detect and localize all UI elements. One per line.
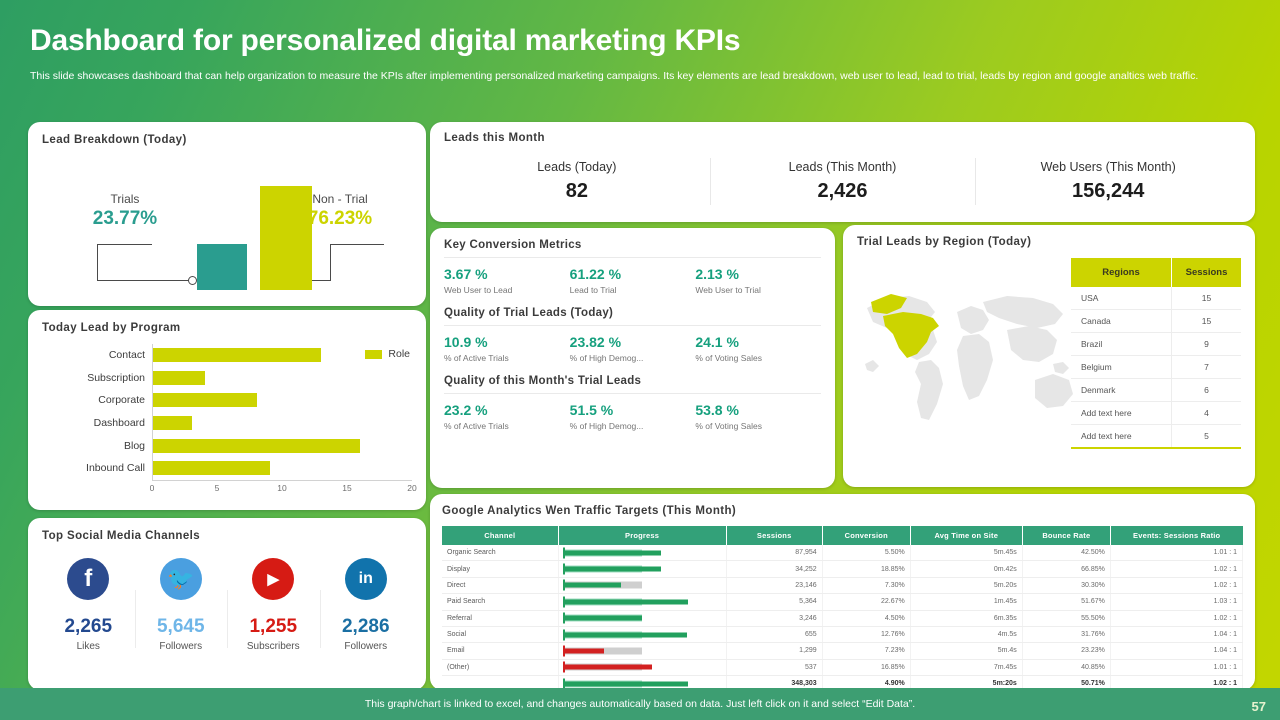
leads-metric-value: 156,244 [975,180,1241,203]
program-axis-tick: 5 [215,483,220,493]
program-bar [153,371,205,385]
progress-bullet [563,595,722,609]
section-divider [444,325,821,326]
conversion-metric-cell: 3.67 %Web User to Lead [444,266,570,295]
region-table-header-row: Regions Sessions [1071,258,1241,287]
analytics-avg-time: 7m.45s [910,659,1022,675]
analytics-conversion: 4.50% [822,610,910,626]
trials-leader-vert [97,244,98,280]
region-body: Regions Sessions USA15Canada15Brazil9Bel… [857,254,1241,472]
key-conversion-sections: Key Conversion Metrics3.67 %Web User to … [444,239,821,431]
progress-fill [563,632,687,637]
progress-fill [563,616,643,621]
region-col-regions: Regions [1071,258,1172,287]
program-bar [153,439,360,453]
analytics-progress-cell [558,577,726,593]
analytics-column-header: Avg Time on Site [910,526,1022,545]
progress-target-mark [563,547,565,558]
conversion-metric-value: 53.8 % [695,402,821,418]
conversion-section-title: Quality of this Month's Trial Leads [444,375,821,387]
leads-this-month-row: Leads (Today)82Leads (This Month)2,426We… [444,156,1241,207]
region-name: Add text here [1071,402,1172,425]
progress-target-mark [563,580,565,591]
analytics-conversion: 16.85% [822,659,910,675]
progress-target-mark [563,596,565,607]
region-sessions: 15 [1172,287,1242,310]
conversion-metric-cell: 51.5 %% of High Demog... [570,402,696,431]
analytics-events-ratio: 1.02 : 1 [1110,577,1242,593]
program-bar [153,348,321,362]
social-channel-cell[interactable]: in2,286Followers [320,558,413,652]
conversion-metric-value: 24.1 % [695,334,821,350]
table-row: Belgium7 [1071,356,1241,379]
analytics-table-body: Organic Search87,9545.50%5m.45s42.50%1.0… [442,545,1243,690]
analytics-bounce-rate: 55.50% [1022,610,1110,626]
leads-metric-label: Leads (Today) [444,160,710,174]
conversion-metric-label: Web User to Lead [444,285,570,295]
table-row: Add text here4 [1071,402,1241,425]
progress-target-mark [563,613,565,624]
social-metric-label: Followers [320,641,413,652]
analytics-progress-cell [558,659,726,675]
section-divider [444,257,821,258]
conversion-metric-cell: 23.2 %% of Active Trials [444,402,570,431]
analytics-bounce-rate: 30.30% [1022,577,1110,593]
progress-fill [563,550,662,555]
analytics-conversion: 7.30% [822,577,910,593]
twitter-icon[interactable]: 🐦 [160,558,202,600]
table-row: Email1,2997.23%5m.4s23.23%1.04 : 1 [442,643,1243,659]
program-x-axis: 05101520 [152,480,412,494]
conversion-metric-value: 61.22 % [570,266,696,282]
conversion-metric-value: 23.82 % [570,334,696,350]
leads-metric-value: 82 [444,180,710,203]
program-bar-row: Contact [42,344,412,367]
analytics-conversion: 22.67% [822,594,910,610]
progress-target-mark [563,662,565,673]
program-bar-track [152,412,412,435]
analytics-events-ratio: 1.02 : 1 [1110,610,1242,626]
program-bar [153,416,192,430]
google-analytics-title: Google Analytics Wen Traffic Targets (Th… [442,505,1243,517]
analytics-avg-time: 4m.5s [910,626,1022,642]
page-header: Dashboard for personalized digital marke… [0,0,1280,83]
program-bar-track [152,389,412,412]
lead-by-program-card: Today Lead by Program ContactSubscriptio… [28,310,426,510]
table-row: Social65512.76%4m.5s31.76%1.04 : 1 [442,626,1243,642]
progress-fill [563,665,652,670]
analytics-bounce-rate: 51.67% [1022,594,1110,610]
region-sessions: 15 [1172,310,1242,333]
conversion-metric-label: % of Active Trials [444,421,570,431]
analytics-column-header: Events: Sessions Ratio [1110,526,1242,545]
analytics-events-ratio: 1.01 : 1 [1110,545,1242,561]
table-row: Referral3,2464.50%6m.35s55.50%1.02 : 1 [442,610,1243,626]
analytics-progress-cell [558,610,726,626]
analytics-channel: Referral [442,610,558,626]
progress-bullet [563,611,722,625]
analytics-channel: Direct [442,577,558,593]
conversion-metric-row: 23.2 %% of Active Trials51.5 %% of High … [444,402,821,431]
program-bar-track [152,457,412,480]
table-row: Display34,25218.85%0m.42s66.85%1.02 : 1 [442,561,1243,577]
google-analytics-card: Google Analytics Wen Traffic Targets (Th… [430,494,1255,690]
region-name: Denmark [1071,379,1172,402]
region-sessions: 5 [1172,425,1242,449]
footer-note: This graph/chart is linked to excel, and… [365,698,915,710]
progress-target-mark [563,564,565,575]
region-name: USA [1071,287,1172,310]
table-row: Add text here5 [1071,425,1241,449]
trials-leader-bottom [97,280,193,281]
world-map-icon [857,268,1083,438]
leads-metric-label: Web Users (This Month) [975,160,1241,174]
analytics-sessions: 655 [726,626,822,642]
analytics-channel: Email [442,643,558,659]
analytics-events-ratio: 1.01 : 1 [1110,659,1242,675]
nontrial-leader-top [330,244,384,245]
table-row: USA15 [1071,287,1241,310]
region-col-sessions: Sessions [1172,258,1242,287]
nontrial-leader-vert [330,244,331,280]
page-subtitle: This slide showcases dashboard that can … [30,69,1230,83]
analytics-conversion: 12.76% [822,626,910,642]
lead-by-program-title: Today Lead by Program [42,322,412,334]
analytics-channel: Display [442,561,558,577]
page-number: 57 [1252,699,1266,714]
analytics-conversion: 18.85% [822,561,910,577]
table-row: (Other)53716.85%7m.45s40.85%1.01 : 1 [442,659,1243,675]
progress-fill [563,599,689,604]
progress-bullet [563,628,722,642]
progress-bullet [563,562,722,576]
progress-target-mark [563,629,565,640]
analytics-channel: Social [442,626,558,642]
conversion-metric-cell: 2.13 %Web User to Trial [695,266,821,295]
analytics-progress-cell [558,545,726,561]
region-name: Add text here [1071,425,1172,449]
leads-metric-cell: Leads (Today)82 [444,156,710,207]
program-bar-row: Subscription [42,367,412,390]
linkedin-icon[interactable]: in [345,558,387,600]
lead-by-program-chart: ContactSubscriptionCorporateDashboardBlo… [42,344,412,494]
progress-fill [563,567,662,572]
program-bar [153,393,257,407]
social-metric-label: Followers [135,641,228,652]
progress-bullet [563,546,722,560]
program-category-label: Inbound Call [42,462,152,474]
analytics-avg-time: 5m.4s [910,643,1022,659]
social-channels-card: Top Social Media Channels f2,265Likes🐦5,… [28,518,426,690]
conversion-metric-label: Lead to Trial [570,285,696,295]
program-axis-tick: 20 [407,483,416,493]
table-row: Canada15 [1071,310,1241,333]
conversion-metric-label: % of Voting Sales [695,421,821,431]
trials-callout: Trials 23.77% [80,192,170,230]
youtube-icon[interactable]: ▶ [252,558,294,600]
progress-fill [563,648,604,653]
conversion-metric-row: 10.9 %% of Active Trials23.82 %% of High… [444,334,821,363]
analytics-column-header: Progress [558,526,726,545]
social-channels-title: Top Social Media Channels [42,530,412,542]
analytics-progress-cell [558,643,726,659]
trials-value: 23.77% [80,208,170,230]
trials-label: Trials [80,192,170,206]
analytics-sessions: 1,299 [726,643,822,659]
progress-bullet [563,578,722,592]
analytics-sessions: 3,246 [726,610,822,626]
analytics-sessions: 23,146 [726,577,822,593]
program-bar-row: Corporate [42,389,412,412]
region-sessions: 6 [1172,379,1242,402]
program-axis-tick: 10 [277,483,286,493]
section-spacer [444,295,821,307]
lead-breakdown-title: Lead Breakdown (Today) [42,134,412,146]
program-category-label: Contact [42,349,152,361]
trials-leader-dot [188,276,197,285]
conversion-metric-value: 51.5 % [570,402,696,418]
analytics-progress-cell [558,594,726,610]
analytics-channel: Organic Search [442,545,558,561]
leads-metric-cell: Leads (This Month)2,426 [710,156,976,207]
analytics-events-ratio: 1.03 : 1 [1110,594,1242,610]
conversion-metric-label: % of Voting Sales [695,353,821,363]
program-category-label: Dashboard [42,417,152,429]
analytics-progress-cell [558,561,726,577]
analytics-column-header: Sessions [726,526,822,545]
analytics-sessions: 87,954 [726,545,822,561]
analytics-progress-cell [558,626,726,642]
conversion-section-title: Key Conversion Metrics [444,239,821,251]
conversion-metric-label: % of High Demog... [570,421,696,431]
region-sessions: 4 [1172,402,1242,425]
social-metric-label: Subscribers [227,641,320,652]
region-table: Regions Sessions USA15Canada15Brazil9Bel… [1071,258,1241,449]
analytics-conversion: 7.23% [822,643,910,659]
conversion-section-title: Quality of Trial Leads (Today) [444,307,821,319]
conversion-metric-value: 23.2 % [444,402,570,418]
conversion-metric-label: % of Active Trials [444,353,570,363]
social-metric-label: Likes [42,641,135,652]
analytics-avg-time: 5m.20s [910,577,1022,593]
trials-leader-top [97,244,152,245]
lead-breakdown-card: Lead Breakdown (Today) Trials 23.77% Non… [28,122,426,306]
trial-leads-region-card: Trial Leads by Region (Today) [843,225,1255,487]
analytics-avg-time: 5m.45s [910,545,1022,561]
program-bar-track [152,367,412,390]
table-row: Paid Search5,36422.67%1m.45s51.67%1.03 :… [442,594,1243,610]
analytics-bounce-rate: 40.85% [1022,659,1110,675]
program-bar-row: Inbound Call [42,457,412,480]
facebook-icon[interactable]: f [67,558,109,600]
progress-bullet [563,644,722,658]
social-channels-grid: f2,265Likes🐦5,645Followers▶1,255Subscrib… [42,558,412,652]
conversion-metric-cell: 53.8 %% of Voting Sales [695,402,821,431]
program-bar-row: Blog [42,434,412,457]
conversion-metric-label: % of High Demog... [570,353,696,363]
program-bar-row: Dashboard [42,412,412,435]
progress-fill [563,583,622,588]
analytics-sessions: 34,252 [726,561,822,577]
analytics-avg-time: 6m.35s [910,610,1022,626]
table-row: Denmark6 [1071,379,1241,402]
conversion-metric-cell: 23.82 %% of High Demog... [570,334,696,363]
progress-fill [563,681,689,686]
analytics-header-row: ChannelProgressSessionsConversionAvg Tim… [442,526,1243,545]
footer-bar: This graph/chart is linked to excel, and… [0,688,1280,720]
social-channel-cell[interactable]: ▶1,255Subscribers [227,558,320,652]
analytics-events-ratio: 1.02 : 1 [1110,561,1242,577]
conversion-metric-value: 2.13 % [695,266,821,282]
key-conversion-metrics-card: Key Conversion Metrics3.67 %Web User to … [430,228,835,488]
social-channel-cell[interactable]: 🐦5,645Followers [135,558,228,652]
leads-this-month-title: Leads this Month [444,132,1241,144]
region-name: Canada [1071,310,1172,333]
page-title: Dashboard for personalized digital marke… [30,24,1250,57]
region-name: Belgium [1071,356,1172,379]
region-sessions: 7 [1172,356,1242,379]
analytics-table: ChannelProgressSessionsConversionAvg Tim… [442,526,1243,690]
program-category-label: Corporate [42,394,152,406]
conversion-metric-value: 3.67 % [444,266,570,282]
section-spacer [444,363,821,375]
leads-this-month-card: Leads this Month Leads (Today)82Leads (T… [430,122,1255,222]
region-sessions: 9 [1172,333,1242,356]
analytics-bounce-rate: 66.85% [1022,561,1110,577]
analytics-avg-time: 0m.42s [910,561,1022,577]
program-category-label: Blog [42,440,152,452]
analytics-bounce-rate: 42.50% [1022,545,1110,561]
analytics-events-ratio: 1.04 : 1 [1110,626,1242,642]
conversion-metric-row: 3.67 %Web User to Lead61.22 %Lead to Tri… [444,266,821,295]
program-axis-tick: 15 [342,483,351,493]
trial-leads-region-title: Trial Leads by Region (Today) [857,236,1241,248]
program-axis-tick: 0 [150,483,155,493]
social-count: 1,255 [227,616,320,638]
social-count: 2,265 [42,616,135,638]
conversion-metric-label: Web User to Trial [695,285,821,295]
analytics-bounce-rate: 31.76% [1022,626,1110,642]
program-bar [153,461,270,475]
analytics-bounce-rate: 23.23% [1022,643,1110,659]
section-divider [444,393,821,394]
analytics-channel: (Other) [442,659,558,675]
leads-metric-value: 2,426 [710,180,976,203]
analytics-channel: Paid Search [442,594,558,610]
social-count: 2,286 [320,616,413,638]
conversion-metric-cell: 10.9 %% of Active Trials [444,334,570,363]
leads-metric-label: Leads (This Month) [710,160,976,174]
trials-bar [197,244,247,290]
analytics-column-header: Conversion [822,526,910,545]
analytics-column-header: Bounce Rate [1022,526,1110,545]
program-legend: Role [365,348,410,360]
social-count: 5,645 [135,616,228,638]
table-row: Organic Search87,9545.50%5m.45s42.50%1.0… [442,545,1243,561]
conversion-metric-value: 10.9 % [444,334,570,350]
leads-metric-cell: Web Users (This Month)156,244 [975,156,1241,207]
progress-target-mark [563,645,565,656]
program-bar-track [152,434,412,457]
lead-breakdown-chart: Trials 23.77% Non - Trial 76.23% [42,150,412,290]
region-table-body: USA15Canada15Brazil9Belgium7Denmark6Add … [1071,287,1241,448]
program-category-label: Subscription [42,372,152,384]
analytics-conversion: 5.50% [822,545,910,561]
social-channel-cell[interactable]: f2,265Likes [42,558,135,652]
analytics-sessions: 5,364 [726,594,822,610]
conversion-metric-cell: 24.1 %% of Voting Sales [695,334,821,363]
table-row: Direct23,1467.30%5m.20s30.30%1.02 : 1 [442,577,1243,593]
region-name: Brazil [1071,333,1172,356]
analytics-sessions: 537 [726,659,822,675]
analytics-column-header: Channel [442,526,558,545]
program-bar-rows: ContactSubscriptionCorporateDashboardBlo… [42,344,412,480]
conversion-metric-cell: 61.22 %Lead to Trial [570,266,696,295]
legend-label: Role [388,348,410,360]
progress-bullet [563,660,722,674]
nontrial-bar [260,186,312,290]
analytics-events-ratio: 1.04 : 1 [1110,643,1242,659]
table-row: Brazil9 [1071,333,1241,356]
analytics-avg-time: 1m.45s [910,594,1022,610]
legend-swatch-icon [365,350,382,359]
